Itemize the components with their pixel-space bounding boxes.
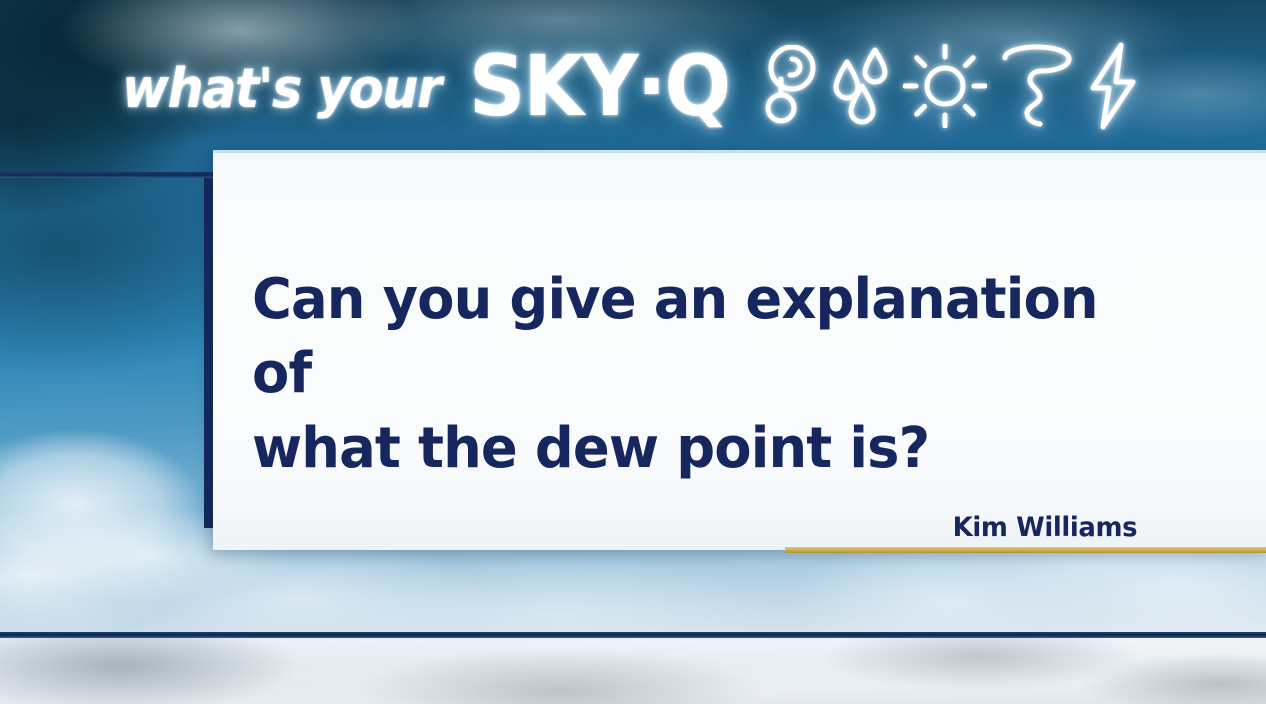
sky-q-logo-lockup: what's your SKY·Q <box>122 38 1141 134</box>
weather-icon-strip <box>761 42 1141 130</box>
question-mark-icon <box>761 45 821 127</box>
tornado-icon <box>999 44 1073 128</box>
logo-skyq-text: SKY·Q <box>469 44 729 128</box>
sun-icon <box>903 44 987 128</box>
rain-drops-icon <box>833 46 891 126</box>
byline-gold-rule <box>785 547 1266 553</box>
byline-name: Kim Williams <box>953 512 1137 543</box>
lightning-bolt-icon <box>1085 42 1141 130</box>
top-left-rule <box>0 172 214 178</box>
logo-prefix-text: what's your <box>122 56 441 116</box>
bottom-rule <box>0 632 1266 638</box>
broadcast-graphic-stage: what's your SKY·Q <box>0 0 1266 704</box>
question-card: Can you give an explanation of what the … <box>213 150 1266 550</box>
question-text: Can you give an explanation of what the … <box>252 263 1125 486</box>
